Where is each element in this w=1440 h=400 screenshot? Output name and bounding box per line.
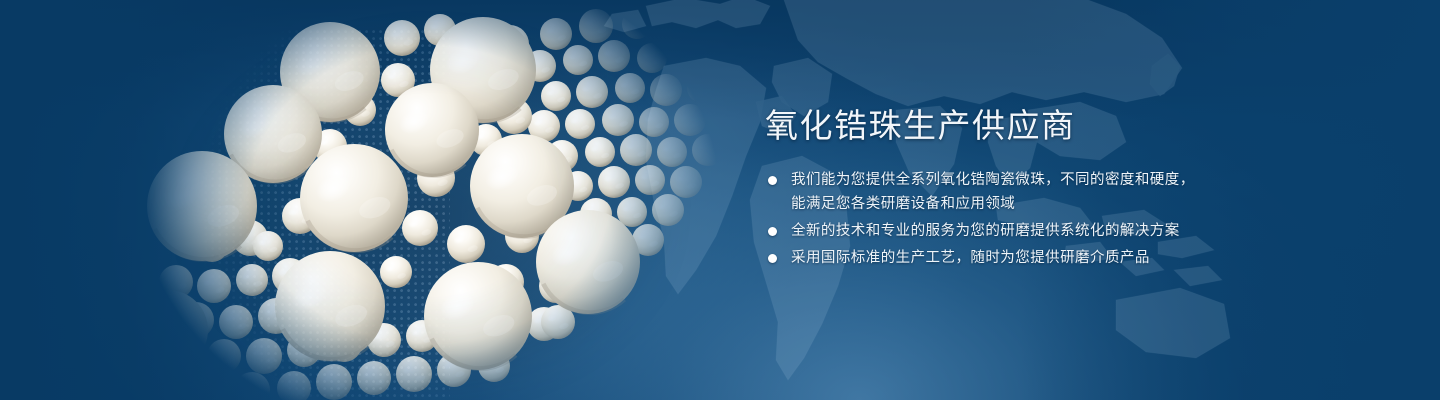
bullet-item-3: 采用国际标准的生产工艺，随时为您提供研磨介质产品 <box>765 246 1385 270</box>
bullet-dot-icon <box>768 176 777 185</box>
zirconia-beads-photo <box>0 0 760 400</box>
bullet-item-2: 全新的技术和专业的服务为您的研磨提供系统化的解决方案 <box>765 219 1385 243</box>
bullet-line: 采用国际标准的生产工艺，随时为您提供研磨介质产品 <box>791 246 1385 270</box>
bullet-line: 我们能为您提供全系列氧化锆陶瓷微珠，不同的密度和硬度， <box>791 168 1385 192</box>
banner-copy: 氧化锆珠生产供应商 我们能为您提供全系列氧化锆陶瓷微珠，不同的密度和硬度， 能满… <box>765 104 1385 273</box>
banner-bullet-list: 我们能为您提供全系列氧化锆陶瓷微珠，不同的密度和硬度， 能满足您各类研磨设备和应… <box>765 168 1385 270</box>
bullet-item-1: 我们能为您提供全系列氧化锆陶瓷微珠，不同的密度和硬度， 能满足您各类研磨设备和应… <box>765 168 1385 216</box>
banner-headline: 氧化锆珠生产供应商 <box>765 104 1385 148</box>
bullet-dot-icon <box>768 227 777 236</box>
bullet-dot-icon <box>768 254 777 263</box>
bullet-line: 全新的技术和专业的服务为您的研磨提供系统化的解决方案 <box>791 219 1385 243</box>
bullet-line: 能满足您各类研磨设备和应用领域 <box>791 192 1385 216</box>
hero-banner: 氧化锆珠生产供应商 我们能为您提供全系列氧化锆陶瓷微珠，不同的密度和硬度， 能满… <box>0 0 1440 400</box>
